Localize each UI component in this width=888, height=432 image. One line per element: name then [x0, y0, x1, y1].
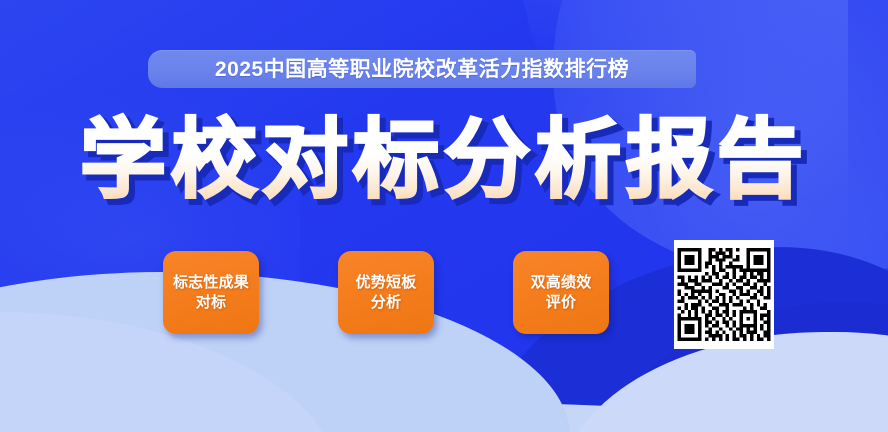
tag-label: 双高绩效 评价	[531, 273, 592, 313]
qr-code-image	[674, 240, 774, 349]
tag-label: 标志性成果 对标	[173, 273, 249, 313]
subtitle-text: 2025中国高等职业院校改革活力指数排行榜	[215, 59, 629, 80]
tag-benchmark-achievements[interactable]: 标志性成果 对标	[163, 251, 259, 334]
page-title: 学校对标分析报告 学校对标分析报告	[80, 108, 808, 212]
tag-strength-weakness-analysis[interactable]: 优势短板 分析	[338, 251, 434, 334]
background-wave-strip	[0, 402, 888, 432]
subtitle-banner: 2025中国高等职业院校改革活力指数排行榜	[148, 50, 696, 88]
qr-code[interactable]	[674, 240, 774, 349]
tag-list: 标志性成果 对标 优势短板 分析 双高绩效 评价	[163, 251, 609, 334]
tag-double-high-performance[interactable]: 双高绩效 评价	[513, 251, 609, 334]
tag-label: 优势短板 分析	[356, 273, 417, 313]
poster-banner: 2025中国高等职业院校改革活力指数排行榜 学校对标分析报告 学校对标分析报告 …	[0, 0, 888, 432]
headline-face: 学校对标分析报告	[80, 110, 808, 210]
headline-container: 学校对标分析报告 学校对标分析报告	[0, 108, 888, 212]
